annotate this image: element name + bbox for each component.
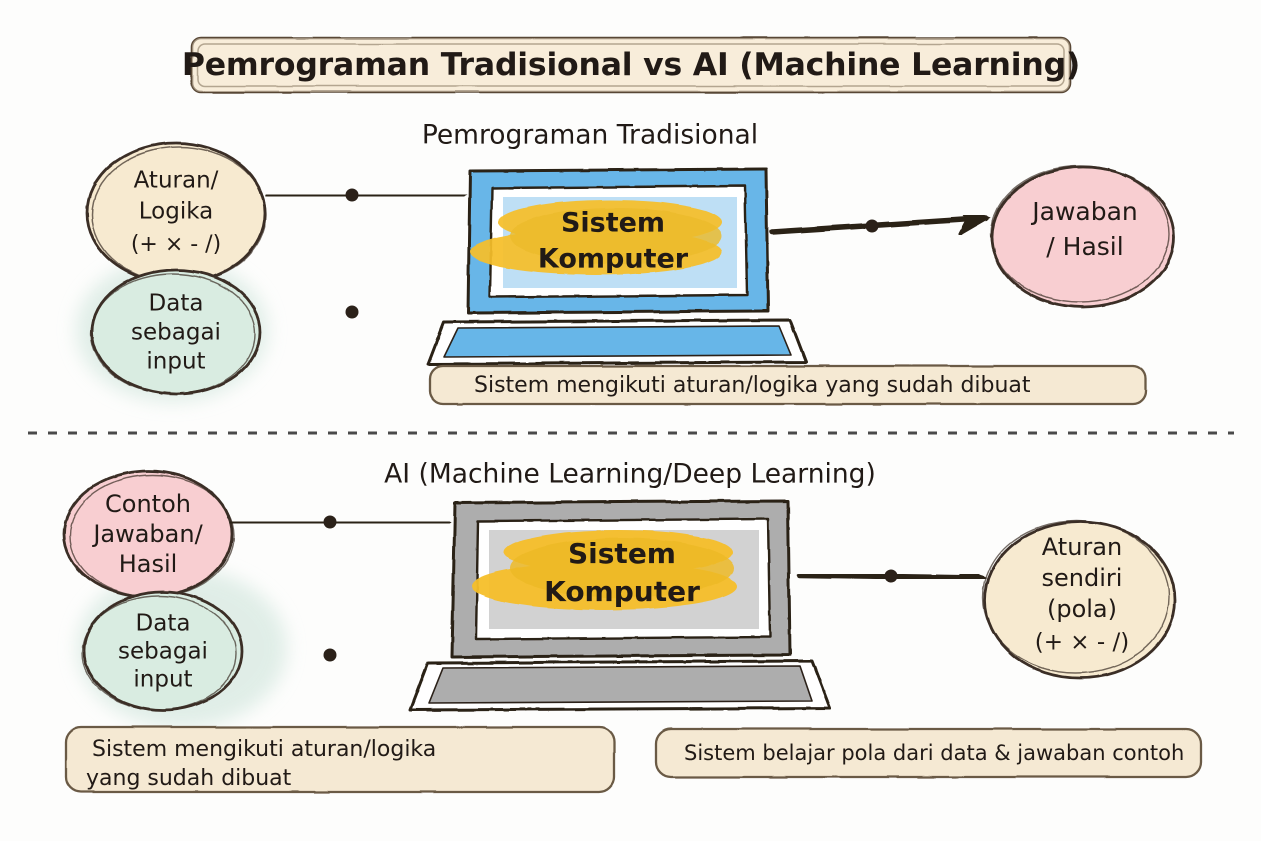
laptop-keyboard-deck: [444, 326, 791, 357]
section-traditional: Pemrograman Tradisional Sistem: [87, 120, 1174, 405]
section-ai: AI (Machine Learning/Deep Learning) Sist…: [64, 459, 1201, 793]
caption-ai-left: Sistem mengikuti aturan/logika yang suda…: [66, 727, 614, 792]
ellipse-line-2: sendiri: [1042, 564, 1123, 592]
caption-text: Sistem belajar pola dari data & jawaban …: [684, 741, 1184, 765]
blue-laptop: Sistem Komputer: [428, 169, 806, 364]
arrow-node: [346, 189, 359, 202]
ellipse-line-4: (+ × - /): [1035, 630, 1129, 656]
arrow-node: [324, 649, 337, 662]
diagram-canvas: Pemrograman Tradisional vs AI (Machine L…: [0, 0, 1261, 841]
ellipse-jawaban-hasil: Jawaban / Hasil: [991, 166, 1174, 307]
caption-line-1: Sistem mengikuti aturan/logika: [92, 737, 436, 762]
laptop-label-line2: Komputer: [538, 244, 689, 275]
ellipse-line-3: Hasil: [119, 550, 178, 578]
caption-line-2: yang sudah dibuat: [86, 766, 292, 791]
arrow-node: [324, 516, 337, 529]
ellipse-line-1: Aturan: [1042, 533, 1122, 561]
ellipse-line-2: Jawaban/: [91, 520, 203, 548]
laptop-label-line1: Sistem: [568, 537, 676, 570]
laptop-label-line2: Komputer: [544, 575, 700, 608]
ellipse-line-1: Data: [149, 291, 204, 317]
ellipse-line-3: (+ × - /): [131, 232, 221, 257]
ellipse-line-2: sebagai: [118, 639, 208, 665]
section-heading-traditional: Pemrograman Tradisional: [422, 120, 758, 151]
ellipse-aturan-sendiri: Aturan sendiri (pola) (+ × - /): [983, 521, 1175, 678]
ellipse-data-input-bottom: Data sebagai input: [82, 592, 242, 710]
ellipse-line-1: Jawaban: [1030, 197, 1138, 226]
ellipse-line-1: Aturan/: [134, 168, 219, 194]
title-box: Pemrograman Tradisional vs AI (Machine L…: [182, 38, 1080, 92]
ellipse-line-2: Logika: [139, 199, 213, 225]
ellipse-line-2: sebagai: [131, 320, 221, 346]
arrow-examples-to-laptop: [232, 522, 446, 523]
section-heading-ai: AI (Machine Learning/Deep Learning): [384, 459, 876, 490]
ellipse-line-3: input: [133, 667, 192, 693]
arrow-node: [866, 220, 879, 233]
caption-text: Sistem mengikuti aturan/logika yang suda…: [474, 373, 1031, 398]
gray-laptop: Sistem Komputer: [410, 501, 830, 710]
diagram-svg: Pemrograman Tradisional vs AI (Machine L…: [0, 0, 1261, 841]
ellipse-line-1: Data: [136, 611, 191, 637]
caption-ai-right: Sistem belajar pola dari data & jawaban …: [656, 729, 1201, 777]
arrow-node: [346, 306, 359, 319]
ellipse-data-input-top: Data sebagai input: [91, 270, 260, 394]
ellipse-line-3: (pola): [1047, 595, 1117, 623]
ellipse-aturan-logika: Aturan/ Logika (+ × - /): [87, 143, 266, 283]
ellipse-line-2: / Hasil: [1046, 232, 1123, 261]
ellipse-line-3: input: [146, 349, 205, 375]
page-title: Pemrograman Tradisional vs AI (Machine L…: [182, 47, 1080, 83]
arrow-node: [885, 570, 898, 583]
caption-traditional: Sistem mengikuti aturan/logika yang suda…: [430, 366, 1146, 404]
ellipse-line-1: Contoh: [105, 490, 191, 518]
arrow-laptop-to-answer: [772, 218, 986, 232]
ellipse-contoh-jawaban: Contoh Jawaban/ Hasil: [64, 471, 234, 597]
arrow-rules-to-laptop: [268, 195, 462, 196]
laptop-keyboard-deck: [429, 666, 812, 703]
laptop-label-line1: Sistem: [561, 208, 665, 239]
